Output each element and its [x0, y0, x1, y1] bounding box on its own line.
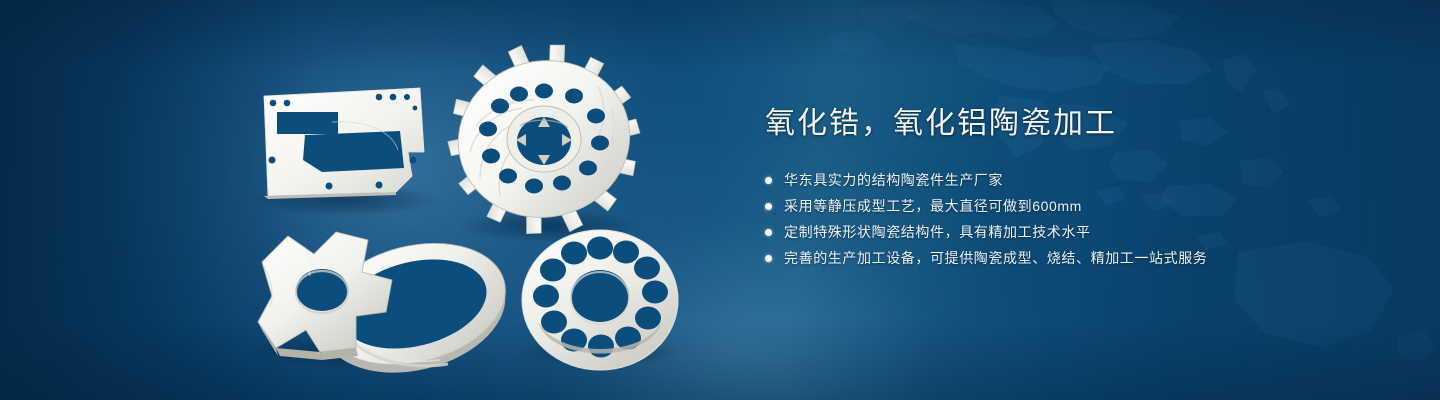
bullet-dot-icon — [765, 203, 772, 210]
ceramic-plate-part — [264, 88, 424, 199]
list-item: 华东具实力的结构陶瓷件生产厂家 — [765, 170, 1385, 192]
hero-banner: 氧化锆，氧化铝陶瓷加工 华东具实力的结构陶瓷件生产厂家 采用等静压成型工艺，最大… — [0, 0, 1440, 400]
bullet-dot-icon — [765, 229, 772, 236]
feature-list: 华东具实力的结构陶瓷件生产厂家 采用等静压成型工艺，最大直径可做到600mm 定… — [765, 170, 1385, 270]
ceramic-impeller-part — [444, 41, 645, 237]
feature-text: 采用等静压成型工艺，最大直径可做到600mm — [784, 196, 1082, 218]
bullet-dot-icon — [765, 255, 772, 262]
list-item: 完善的生产加工设备，可提供陶瓷成型、烧结、精加工一站式服务 — [765, 248, 1385, 270]
ceramic-perforated-disc-part — [522, 230, 678, 370]
bullet-dot-icon — [765, 177, 772, 184]
banner-copy: 氧化锆，氧化铝陶瓷加工 华东具实力的结构陶瓷件生产厂家 采用等静压成型工艺，最大… — [765, 104, 1385, 274]
feature-text: 华东具实力的结构陶瓷件生产厂家 — [784, 170, 1003, 192]
list-item: 采用等静压成型工艺，最大直径可做到600mm — [765, 196, 1385, 218]
ceramic-parts-artwork — [0, 0, 760, 400]
list-item: 定制特殊形状陶瓷结构件，具有精加工技术水平 — [765, 222, 1385, 244]
feature-text: 完善的生产加工设备，可提供陶瓷成型、烧结、精加工一站式服务 — [784, 248, 1207, 270]
page-title: 氧化锆，氧化铝陶瓷加工 — [765, 104, 1385, 144]
feature-text: 定制特殊形状陶瓷结构件，具有精加工技术水平 — [784, 222, 1091, 244]
